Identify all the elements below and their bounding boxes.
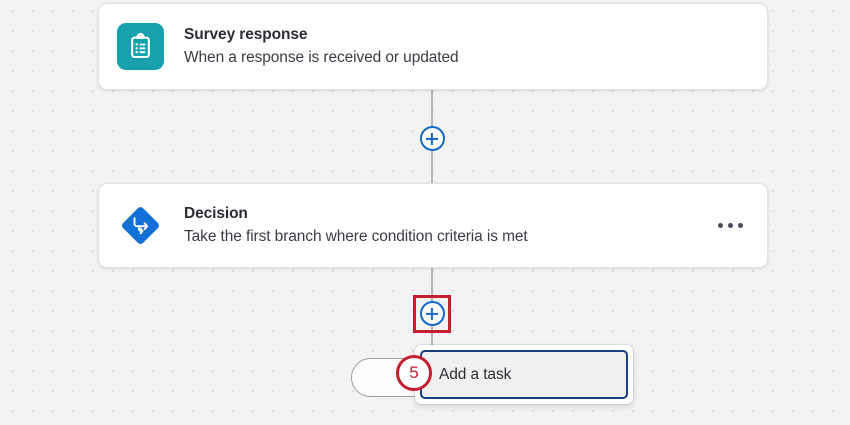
dot bbox=[738, 223, 744, 229]
plus-circle-icon-add-step-1[interactable] bbox=[420, 126, 445, 151]
node-subtitle: When a response is received or updated bbox=[184, 47, 749, 69]
node-subtitle: Take the first branch where condition cr… bbox=[184, 226, 712, 248]
more-options-icon[interactable] bbox=[712, 215, 750, 237]
menu-item-label: Add a task bbox=[439, 366, 511, 384]
node-text-block: Decision Take the first branch where con… bbox=[184, 204, 712, 248]
annotation-step-badge: 5 bbox=[396, 355, 432, 391]
node-icon-wrapper bbox=[117, 202, 164, 249]
add-step-dropdown-menu[interactable]: Add a task bbox=[415, 345, 633, 404]
decision-branch-icon bbox=[117, 202, 164, 249]
node-icon-wrapper bbox=[117, 23, 164, 70]
menu-item-add-a-task[interactable]: Add a task bbox=[420, 350, 628, 399]
dot bbox=[728, 223, 734, 229]
clipboard-list-icon bbox=[117, 23, 164, 70]
workflow-node-survey-response[interactable]: Survey response When a response is recei… bbox=[98, 3, 768, 90]
node-text-block: Survey response When a response is recei… bbox=[184, 25, 749, 69]
dot bbox=[718, 223, 724, 229]
workflow-canvas[interactable]: Survey response When a response is recei… bbox=[0, 0, 850, 425]
node-title: Survey response bbox=[184, 25, 749, 46]
workflow-node-decision[interactable]: Decision Take the first branch where con… bbox=[98, 183, 768, 268]
step-number: 5 bbox=[409, 363, 418, 383]
annotation-highlight-box bbox=[413, 295, 451, 333]
node-title: Decision bbox=[184, 204, 712, 225]
